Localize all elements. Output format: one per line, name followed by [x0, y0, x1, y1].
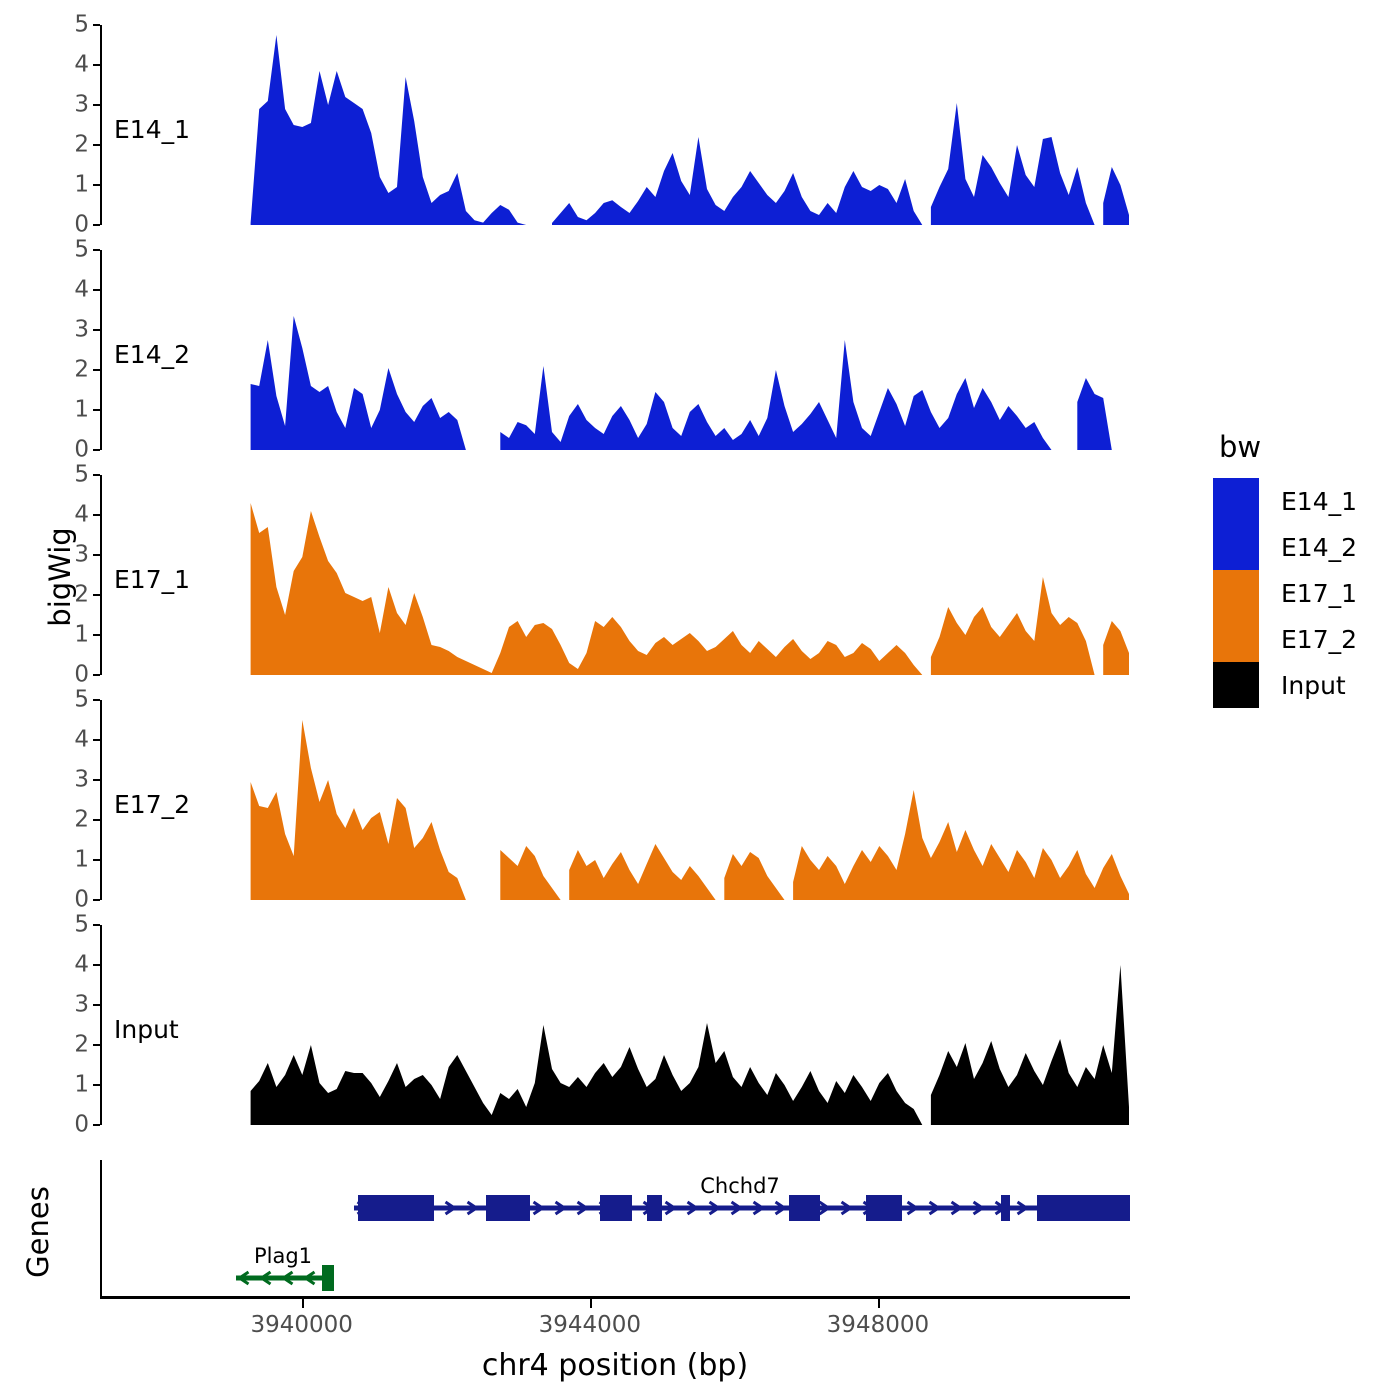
gene-exon — [866, 1195, 902, 1221]
y-tick-label: 5 — [74, 689, 89, 712]
coverage-area-e14_1 — [102, 25, 1130, 225]
x-tick-label: 3944000 — [539, 1312, 641, 1338]
y-tick — [93, 64, 100, 66]
legend-items: E14_1E14_2E17_1E17_2Input — [1213, 478, 1357, 708]
y-tick-label: 1 — [74, 399, 89, 422]
y-tick — [93, 249, 100, 251]
y-tick-label: 3 — [74, 319, 89, 342]
x-tick — [302, 1299, 304, 1308]
track-panel-input: 543210Input — [100, 925, 1130, 1125]
track-panel-e17_1: 543210E17_1 — [100, 475, 1130, 675]
y-tick-label: 0 — [74, 889, 89, 912]
y-tick — [93, 819, 100, 821]
coverage-area-input — [102, 925, 1130, 1125]
coverage-path — [251, 720, 1129, 900]
gene-exon — [647, 1195, 662, 1221]
coverage-path — [251, 35, 1129, 225]
y-tick-label: 1 — [74, 1074, 89, 1097]
y-tick-label: 2 — [74, 134, 89, 157]
gene-exon — [322, 1265, 334, 1291]
y-tick-label: 2 — [74, 1034, 89, 1057]
y-tick — [93, 1124, 100, 1126]
legend-item-e14_2[interactable]: E14_2 — [1213, 524, 1357, 570]
coverage-path — [251, 965, 1129, 1125]
y-tick — [93, 369, 100, 371]
track-panel-e14_2: 543210E14_2 — [100, 250, 1130, 450]
y-tick — [93, 289, 100, 291]
y-tick-label: 5 — [74, 914, 89, 937]
legend-color-swatch — [1213, 570, 1259, 616]
x-tick — [590, 1299, 592, 1308]
gene-label-plag1: Plag1 — [254, 1244, 312, 1268]
x-tick-label: 3948000 — [827, 1312, 929, 1338]
y-tick-label: 2 — [74, 359, 89, 382]
y-tick-label: 3 — [74, 994, 89, 1017]
y-tick — [93, 739, 100, 741]
gene-track-svg — [102, 1160, 1130, 1296]
legend: bw E14_1E14_2E17_1E17_2Input — [1213, 430, 1357, 708]
legend-color-swatch — [1213, 662, 1259, 708]
y-tick — [93, 474, 100, 476]
y-tick-label: 0 — [74, 1114, 89, 1137]
y-tick — [93, 1044, 100, 1046]
y-tick — [93, 514, 100, 516]
coverage-path — [251, 316, 1112, 450]
y-tick-label: 4 — [74, 279, 89, 302]
gene-exon — [1037, 1195, 1130, 1221]
y-tick — [93, 1004, 100, 1006]
genes-panel — [100, 1160, 1130, 1296]
coverage-area-e17_1 — [102, 475, 1130, 675]
legend-item-label: E14_2 — [1281, 533, 1357, 562]
gene-exon — [486, 1195, 530, 1221]
y-tick — [93, 699, 100, 701]
y-tick — [93, 409, 100, 411]
x-tick — [878, 1299, 880, 1308]
track-panel-e14_1: 543210E14_1 — [100, 25, 1130, 225]
legend-color-swatch — [1213, 616, 1259, 662]
y-tick-label: 2 — [74, 809, 89, 832]
y-axis-title-bigwig: bigWig — [43, 477, 77, 677]
y-tick — [93, 779, 100, 781]
gene-label-chchd7: Chchd7 — [700, 1174, 780, 1198]
coverage-path — [251, 503, 1129, 675]
y-tick-label: 4 — [74, 54, 89, 77]
gene-exon — [600, 1195, 632, 1221]
legend-item-label: E17_2 — [1281, 625, 1357, 654]
y-tick — [93, 964, 100, 966]
y-tick-label: 3 — [74, 94, 89, 117]
legend-item-e17_1[interactable]: E17_1 — [1213, 570, 1357, 616]
legend-item-label: E17_1 — [1281, 579, 1357, 608]
legend-item-e17_2[interactable]: E17_2 — [1213, 616, 1357, 662]
track-panel-e17_2: 543210E17_2 — [100, 700, 1130, 900]
coverage-area-e14_2 — [102, 250, 1130, 450]
y-tick — [93, 24, 100, 26]
y-tick-label: 1 — [74, 624, 89, 647]
y-tick-label: 1 — [74, 849, 89, 872]
legend-color-swatch — [1213, 524, 1259, 570]
gene-exon — [358, 1195, 384, 1221]
y-tick — [93, 144, 100, 146]
y-tick — [93, 924, 100, 926]
y-tick-label: 0 — [74, 214, 89, 237]
y-tick — [93, 329, 100, 331]
x-tick-label: 3940000 — [250, 1312, 352, 1338]
y-tick-label: 1 — [74, 174, 89, 197]
y-tick-label: 4 — [74, 504, 89, 527]
legend-item-label: E14_1 — [1281, 487, 1357, 516]
legend-color-swatch — [1213, 478, 1259, 524]
gene-exon — [1001, 1195, 1010, 1221]
y-tick — [93, 104, 100, 106]
y-tick — [93, 184, 100, 186]
y-tick — [93, 224, 100, 226]
coverage-area-e17_2 — [102, 700, 1130, 900]
legend-item-e14_1[interactable]: E14_1 — [1213, 478, 1357, 524]
y-tick — [93, 1084, 100, 1086]
legend-item-label: Input — [1281, 671, 1346, 700]
y-axis-title-genes: Genes — [21, 1142, 55, 1322]
y-tick-label: 0 — [74, 664, 89, 687]
x-axis-line — [100, 1296, 1130, 1299]
y-tick-label: 5 — [74, 464, 89, 487]
y-tick — [93, 449, 100, 451]
y-tick-label: 3 — [74, 769, 89, 792]
y-tick — [93, 634, 100, 636]
legend-title: bw — [1219, 430, 1357, 464]
gene-exon — [789, 1195, 820, 1221]
y-tick-label: 5 — [74, 239, 89, 262]
y-tick — [93, 554, 100, 556]
figure-root: bigWig Genes 543210E14_1543210E14_254321… — [0, 0, 1400, 1400]
gene-exon — [384, 1195, 434, 1221]
y-tick — [93, 674, 100, 676]
y-tick — [93, 899, 100, 901]
y-tick-label: 4 — [74, 729, 89, 752]
y-tick — [93, 859, 100, 861]
y-tick-label: 5 — [74, 14, 89, 37]
y-tick — [93, 594, 100, 596]
legend-item-input[interactable]: Input — [1213, 662, 1357, 708]
y-tick-label: 3 — [74, 544, 89, 567]
y-tick-label: 4 — [74, 954, 89, 977]
y-tick-label: 0 — [74, 439, 89, 462]
x-axis-title: chr4 position (bp) — [100, 1348, 1130, 1383]
y-tick-label: 2 — [74, 584, 89, 607]
